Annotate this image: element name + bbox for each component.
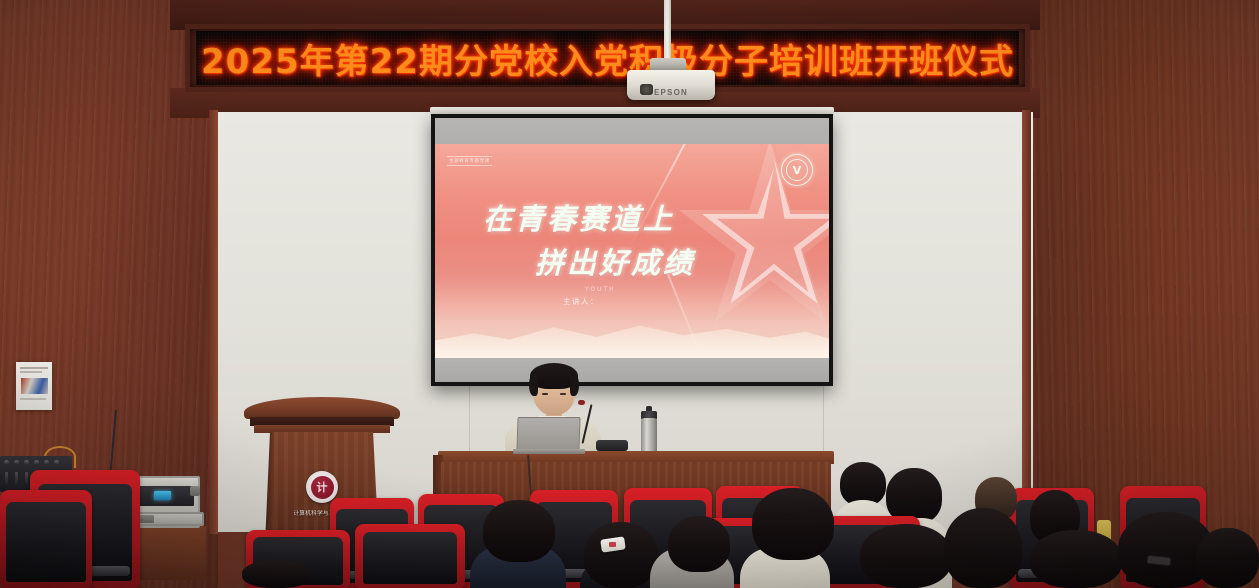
led-banner: 2025年第22期分党校入党积极分子培训班开班仪式 (196, 31, 1019, 85)
audience-head (483, 500, 555, 562)
slide-tagline: 主题教育专题党课 (447, 156, 492, 166)
mixer-knob (34, 460, 39, 465)
audience-head (1196, 528, 1259, 588)
screen-blank-top (435, 118, 829, 144)
laptop-screen (516, 417, 580, 451)
flight-case-latch-right (190, 486, 200, 496)
poster-text-line-1 (20, 367, 48, 369)
mixer-knob (4, 460, 9, 465)
seat-back (6, 502, 85, 582)
presenter-eye-right (560, 393, 566, 395)
projector-mount-pole (664, 0, 671, 62)
mixer-fader (5, 472, 8, 485)
projector-lens (640, 84, 653, 95)
presenter-eye-left (542, 393, 548, 395)
audience-head (584, 522, 658, 588)
mixer-fader (15, 472, 18, 485)
screen-blank-bottom (435, 358, 829, 382)
college-emblem-icon: 计 (306, 471, 338, 503)
mixer-knob (14, 460, 19, 465)
seat (355, 524, 465, 588)
audience-head (752, 488, 834, 560)
podium-trim-upper-2 (254, 425, 390, 433)
mixer-knob (24, 460, 29, 465)
audience-head (242, 560, 312, 588)
audience-head (860, 524, 952, 588)
slide-presenter-credit: 主讲人： (563, 296, 599, 307)
projection-screen: 主题教育专题党课 在青春赛道上 拼出好成绩 YOUTH 主讲人： V (435, 118, 829, 382)
led-banner-text: 2025年第22期分党校入党积极分子培训班开班仪式 (201, 34, 1014, 83)
laptop-base (513, 449, 585, 454)
receiver-display-right (154, 491, 171, 500)
podium-top-surface (244, 397, 400, 419)
seat-back (363, 532, 458, 584)
mixer-knob (44, 460, 49, 465)
mixer-fader (25, 472, 28, 485)
lecture-hall-photo: 2025年第22期分党校入党积极分子培训班开班仪式 EPSON 主题教育专题党课… (0, 0, 1259, 588)
slide-title-line-2: 拼出好成绩 (535, 240, 695, 282)
audience-head (944, 508, 1022, 588)
poster-text-line-2 (20, 371, 42, 373)
seat (0, 490, 92, 588)
school-emblem-icon: V (781, 154, 813, 186)
audience-head (1030, 530, 1122, 588)
mixer-knob (54, 460, 59, 465)
poster-image (21, 378, 48, 394)
poster-text-line-3 (20, 398, 46, 400)
hair-clip-accent (609, 542, 616, 547)
front-wall-frame-right (1022, 110, 1031, 534)
flight-case-latch-front (140, 515, 154, 523)
college-emblem-glyph: 计 (311, 476, 334, 499)
front-wall-frame-left (209, 110, 218, 534)
audience-head (668, 516, 730, 572)
presenter-hair-left (529, 374, 538, 396)
wall-poster (16, 362, 52, 410)
microphone-head (578, 400, 585, 405)
mountain-graphic (435, 314, 829, 358)
microphone-base (596, 440, 628, 451)
presentation-slide: 主题教育专题党课 在青春赛道上 拼出好成绩 YOUTH 主讲人： V (435, 144, 829, 358)
school-emblem-glyph: V (786, 159, 808, 181)
slide-title-line-1: 在青春赛道上 (483, 196, 675, 238)
presenter-hair-right (570, 374, 579, 396)
slide-subline: YOUTH (585, 286, 616, 293)
